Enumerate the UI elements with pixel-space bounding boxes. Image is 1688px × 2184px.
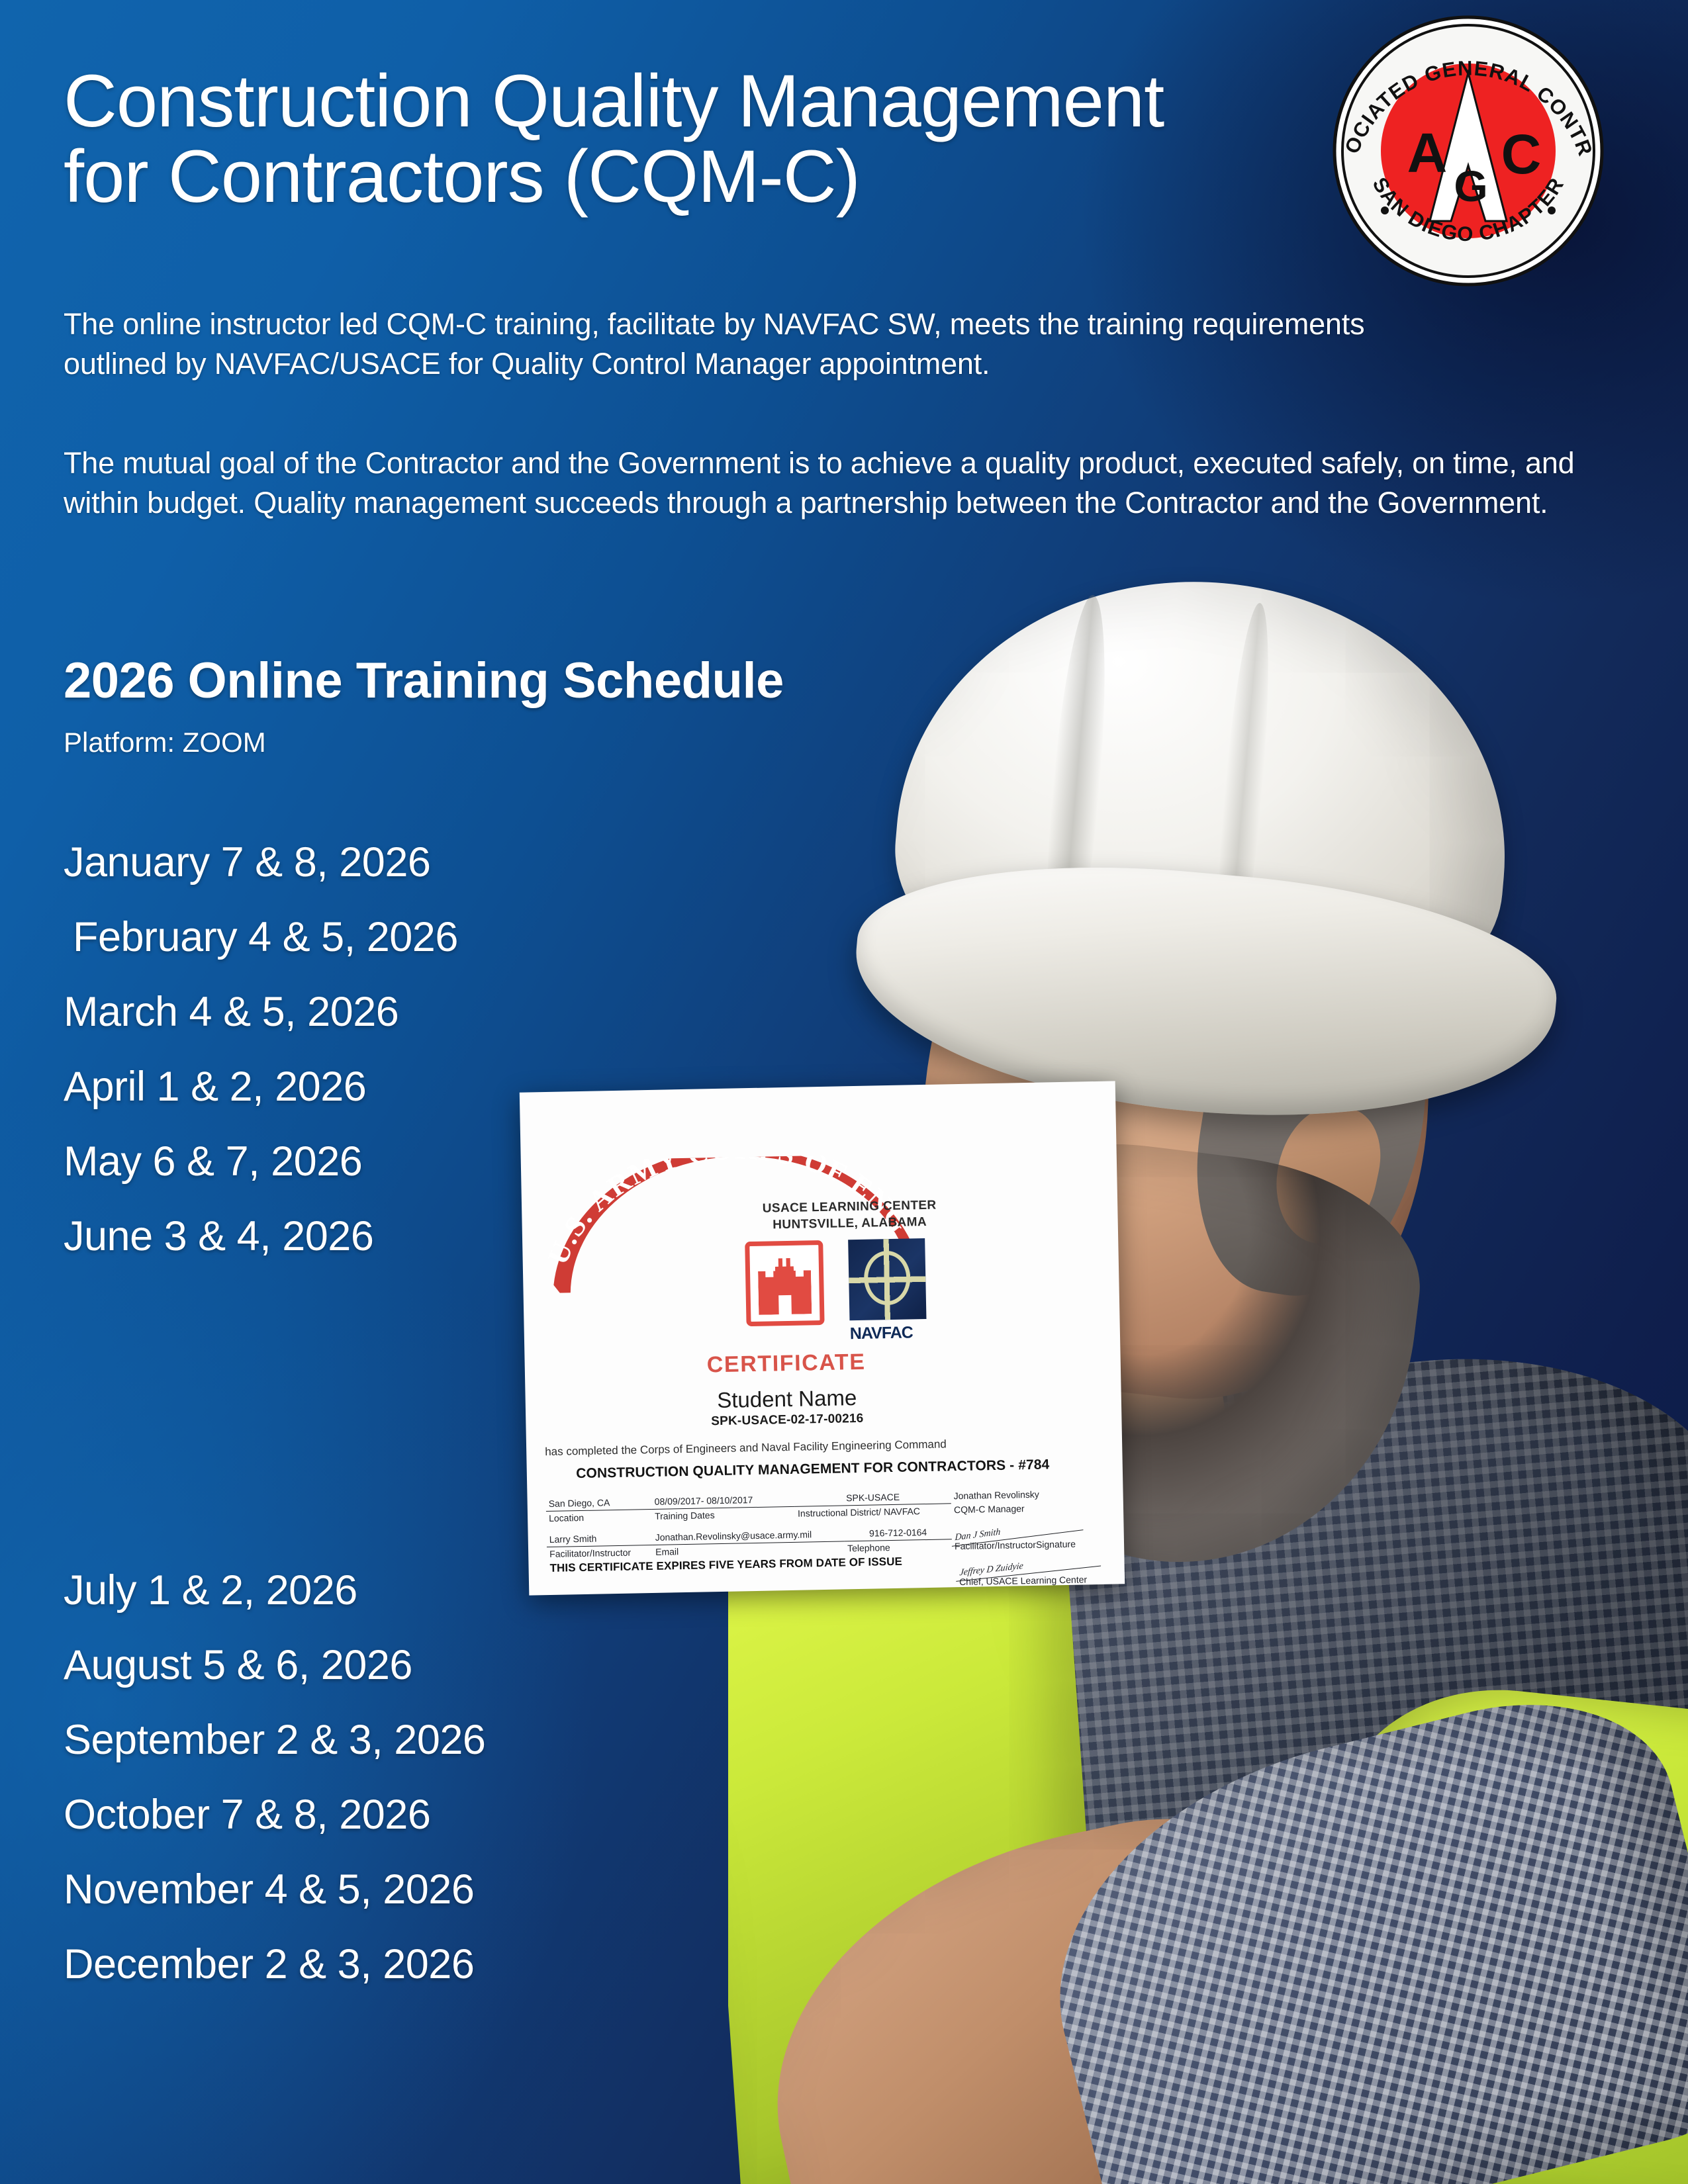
usace-castle-icon <box>745 1240 824 1326</box>
cert-subtitle-line1: USACE LEARNING CENTER <box>763 1199 937 1216</box>
cert-subtitle-line2: HUNTSVILLE, ALABAMA <box>773 1215 927 1232</box>
schedule-date-april: April 1 & 2, 2026 <box>64 1066 458 1108</box>
schedule-date-january: January 7 & 8, 2026 <box>64 842 458 884</box>
schedule-date-december: December 2 & 3, 2026 <box>64 1944 485 1985</box>
cert-field-grid: San Diego, CA Location 08/09/2017- 08/10… <box>546 1488 1113 1596</box>
cert-certificate-word: CERTIFICATE <box>524 1344 1121 1381</box>
schedule-date-may: May 6 & 7, 2026 <box>64 1141 458 1183</box>
title-line-2: for Contractors (CQM-C) <box>64 139 1335 214</box>
cert-field-dates: 08/09/2017- 08/10/2017 Training Dates <box>652 1494 796 1522</box>
white-hard-hat-icon <box>854 582 1556 1112</box>
title-line-1: Construction Quality Management <box>64 60 1164 142</box>
cert-field-instructor: Larry Smith Facilitator/Instructor <box>547 1532 653 1559</box>
cert-field-email: Jonathan.Revolinsky@usace.army.mil Email <box>653 1528 845 1557</box>
page-title: Construction Quality Management for Cont… <box>64 64 1335 214</box>
cert-instructor-label: Facilitator/Instructor <box>547 1545 653 1559</box>
cert-phone-label: Telephone <box>845 1539 952 1553</box>
poster-canvas: U.S. ARMY CORPS OF ENG USACE LEARNING CE… <box>0 0 1688 2184</box>
schedule-date-march: March 4 & 5, 2026 <box>64 991 458 1033</box>
cert-course-title: CONSTRUCTION QUALITY MANAGEMENT FOR CONT… <box>527 1455 1123 1482</box>
cert-completed-line: has completed the Corps of Engineers and… <box>545 1435 1105 1459</box>
navfac-globe-icon <box>848 1238 926 1320</box>
cert-field-chief: Jeffrey D Zuidyie Chief, USACE Learning … <box>957 1559 1103 1587</box>
cert-field-row-2: Larry Smith Facilitator/Instructor Jonat… <box>547 1524 1113 1559</box>
schedule-date-august: August 5 & 6, 2026 <box>64 1645 485 1686</box>
schedule-list-second-half: July 1 & 2, 2026 August 5 & 6, 2026 Sept… <box>64 1570 485 2019</box>
cert-field-manager: Jonathan Revolinsky CQM-C Manager <box>951 1488 1084 1516</box>
schedule-date-november: November 4 & 5, 2026 <box>64 1869 485 1911</box>
schedule-heading: 2026 Online Training Schedule <box>64 652 784 709</box>
schedule-date-june: June 3 & 4, 2026 <box>64 1216 458 1257</box>
intro-paragraph-2: The mutual goal of the Contractor and th… <box>64 443 1606 523</box>
cert-subtitle: USACE LEARNING CENTER HUNTSVILLE, ALABAM… <box>740 1197 959 1234</box>
cert-field-signature: Dan J Smith Facilitator/InstructorSignat… <box>951 1524 1084 1551</box>
usace-certificate-image: U.S. ARMY CORPS OF ENG USACE LEARNING CE… <box>520 1081 1125 1595</box>
schedule-date-october: October 7 & 8, 2026 <box>64 1794 485 1836</box>
schedule-date-july: July 1 & 2, 2026 <box>64 1570 485 1612</box>
cert-logo-row <box>745 1238 926 1326</box>
agc-letter-g: G <box>1454 161 1487 210</box>
agc-letter-a: A <box>1407 122 1448 184</box>
cert-field-row-1: San Diego, CA Location 08/09/2017- 08/10… <box>546 1488 1112 1524</box>
agc-san-diego-logo: THE ASSOCIATED GENERAL CONTRACTORS SAN D… <box>1329 12 1607 290</box>
cert-field-district: SPK-USACE Instructional District/ NAVFAC <box>795 1490 952 1519</box>
platform-label: Platform: ZOOM <box>64 727 266 758</box>
cert-manager-label: CQM-C Manager <box>951 1500 1084 1515</box>
schedule-date-february: February 4 & 5, 2026 <box>64 917 458 958</box>
cert-field-row-3: Jeffrey D Zuidyie Chief, USACE Learning … <box>957 1559 1113 1588</box>
cert-field-location: San Diego, CA Location <box>546 1496 653 1524</box>
cert-location-label: Location <box>546 1510 652 1524</box>
schedule-list-first-half: January 7 & 8, 2026 February 4 & 5, 2026… <box>64 842 458 1291</box>
schedule-date-september: September 2 & 3, 2026 <box>64 1719 485 1761</box>
cert-field-phone: 916-712-0164 Telephone <box>845 1526 953 1553</box>
cert-dates-label: Training Dates <box>652 1507 795 1522</box>
cert-district-label: Instructional District/ NAVFAC <box>795 1504 951 1519</box>
intro-paragraph-1: The online instructor led CQM-C training… <box>64 304 1427 384</box>
navfac-wordmark: NAVFAC <box>850 1323 927 1343</box>
agc-letter-c: C <box>1501 123 1542 185</box>
